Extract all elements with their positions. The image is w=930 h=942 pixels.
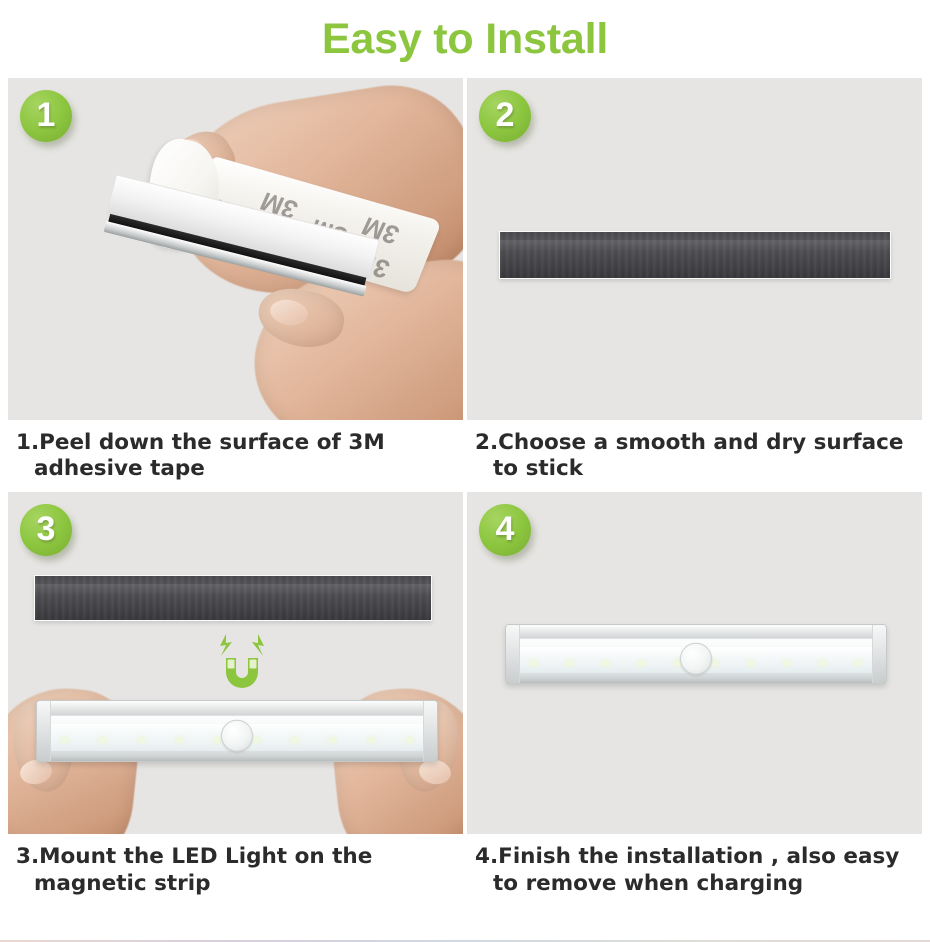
led-dot (638, 660, 645, 666)
led-dot (253, 737, 260, 743)
install-steps-grid: 1 3M 3M 3M 3M 3M 3M (0, 78, 930, 901)
led-dot (783, 660, 790, 666)
led-bar-rail (506, 625, 886, 639)
install-step-3: 3 (8, 492, 463, 900)
step-number-badge-4: 4 (479, 504, 531, 556)
step-4-caption: 4.Finish the installation , also easy to… (467, 834, 922, 900)
led-dot (406, 737, 413, 743)
step-2-image: 2 (467, 78, 922, 420)
motion-sensor-icon (680, 642, 712, 674)
led-dot (819, 660, 826, 666)
led-bar-end-cap-right (423, 701, 437, 761)
led-dot (291, 737, 298, 743)
led-light-bar (36, 700, 438, 762)
led-dot (99, 737, 106, 743)
led-dot (61, 737, 68, 743)
step-number-label: 4 (496, 512, 515, 548)
led-bar-end-cap-left (37, 701, 51, 761)
step-number-badge-1: 1 (20, 90, 72, 142)
motion-sensor-icon (221, 719, 253, 751)
led-dot (368, 737, 375, 743)
step-3-image: 3 (8, 492, 463, 834)
step-4-image: 4 (467, 492, 922, 834)
magnetic-mounting-strip (34, 575, 432, 621)
caption-line-2: strip (154, 871, 210, 896)
caption-line-2: stick (526, 456, 584, 481)
led-dot (329, 737, 336, 743)
step-number-badge-3: 3 (20, 504, 72, 556)
step-number-label: 3 (37, 512, 56, 548)
led-dot (138, 737, 145, 743)
step-number-badge-2: 2 (479, 90, 531, 142)
led-bar-rail (37, 701, 437, 715)
caption-line-2: remove when charging (526, 871, 804, 896)
led-dot (566, 660, 573, 666)
install-step-1: 1 3M 3M 3M 3M 3M 3M (8, 78, 463, 486)
led-bar-end-cap-left (506, 625, 520, 683)
caption-line-2: tape (150, 456, 205, 481)
page-header: Easy to Install (0, 0, 930, 78)
led-dot (855, 660, 862, 666)
led-dot (602, 660, 609, 666)
step-number-label: 1 (37, 98, 56, 134)
step-2-caption: 2.Choose a smooth and dry surface to sti… (467, 420, 922, 486)
step-1-image: 1 3M 3M 3M 3M 3M 3M (8, 78, 463, 420)
led-dot (747, 660, 754, 666)
led-bar-end-cap-right (872, 625, 886, 683)
step-3-caption: 3.Mount the LED Light on the magnetic st… (8, 834, 463, 900)
footer-spacer (0, 901, 930, 941)
install-step-2: 2 2.Choose a smooth and dry surface to s… (467, 78, 922, 486)
magnet-icon (206, 628, 278, 700)
step-number-label: 2 (496, 98, 515, 134)
page-title: Easy to Install (322, 18, 608, 61)
led-dot (176, 737, 183, 743)
led-light-bar (505, 624, 887, 684)
step-1-caption: 1.Peel down the surface of 3M adhesive t… (8, 420, 463, 486)
led-dot (530, 660, 537, 666)
magnetic-mounting-strip (499, 231, 891, 279)
install-step-4: 4 4.Finish the installation , also (467, 492, 922, 900)
